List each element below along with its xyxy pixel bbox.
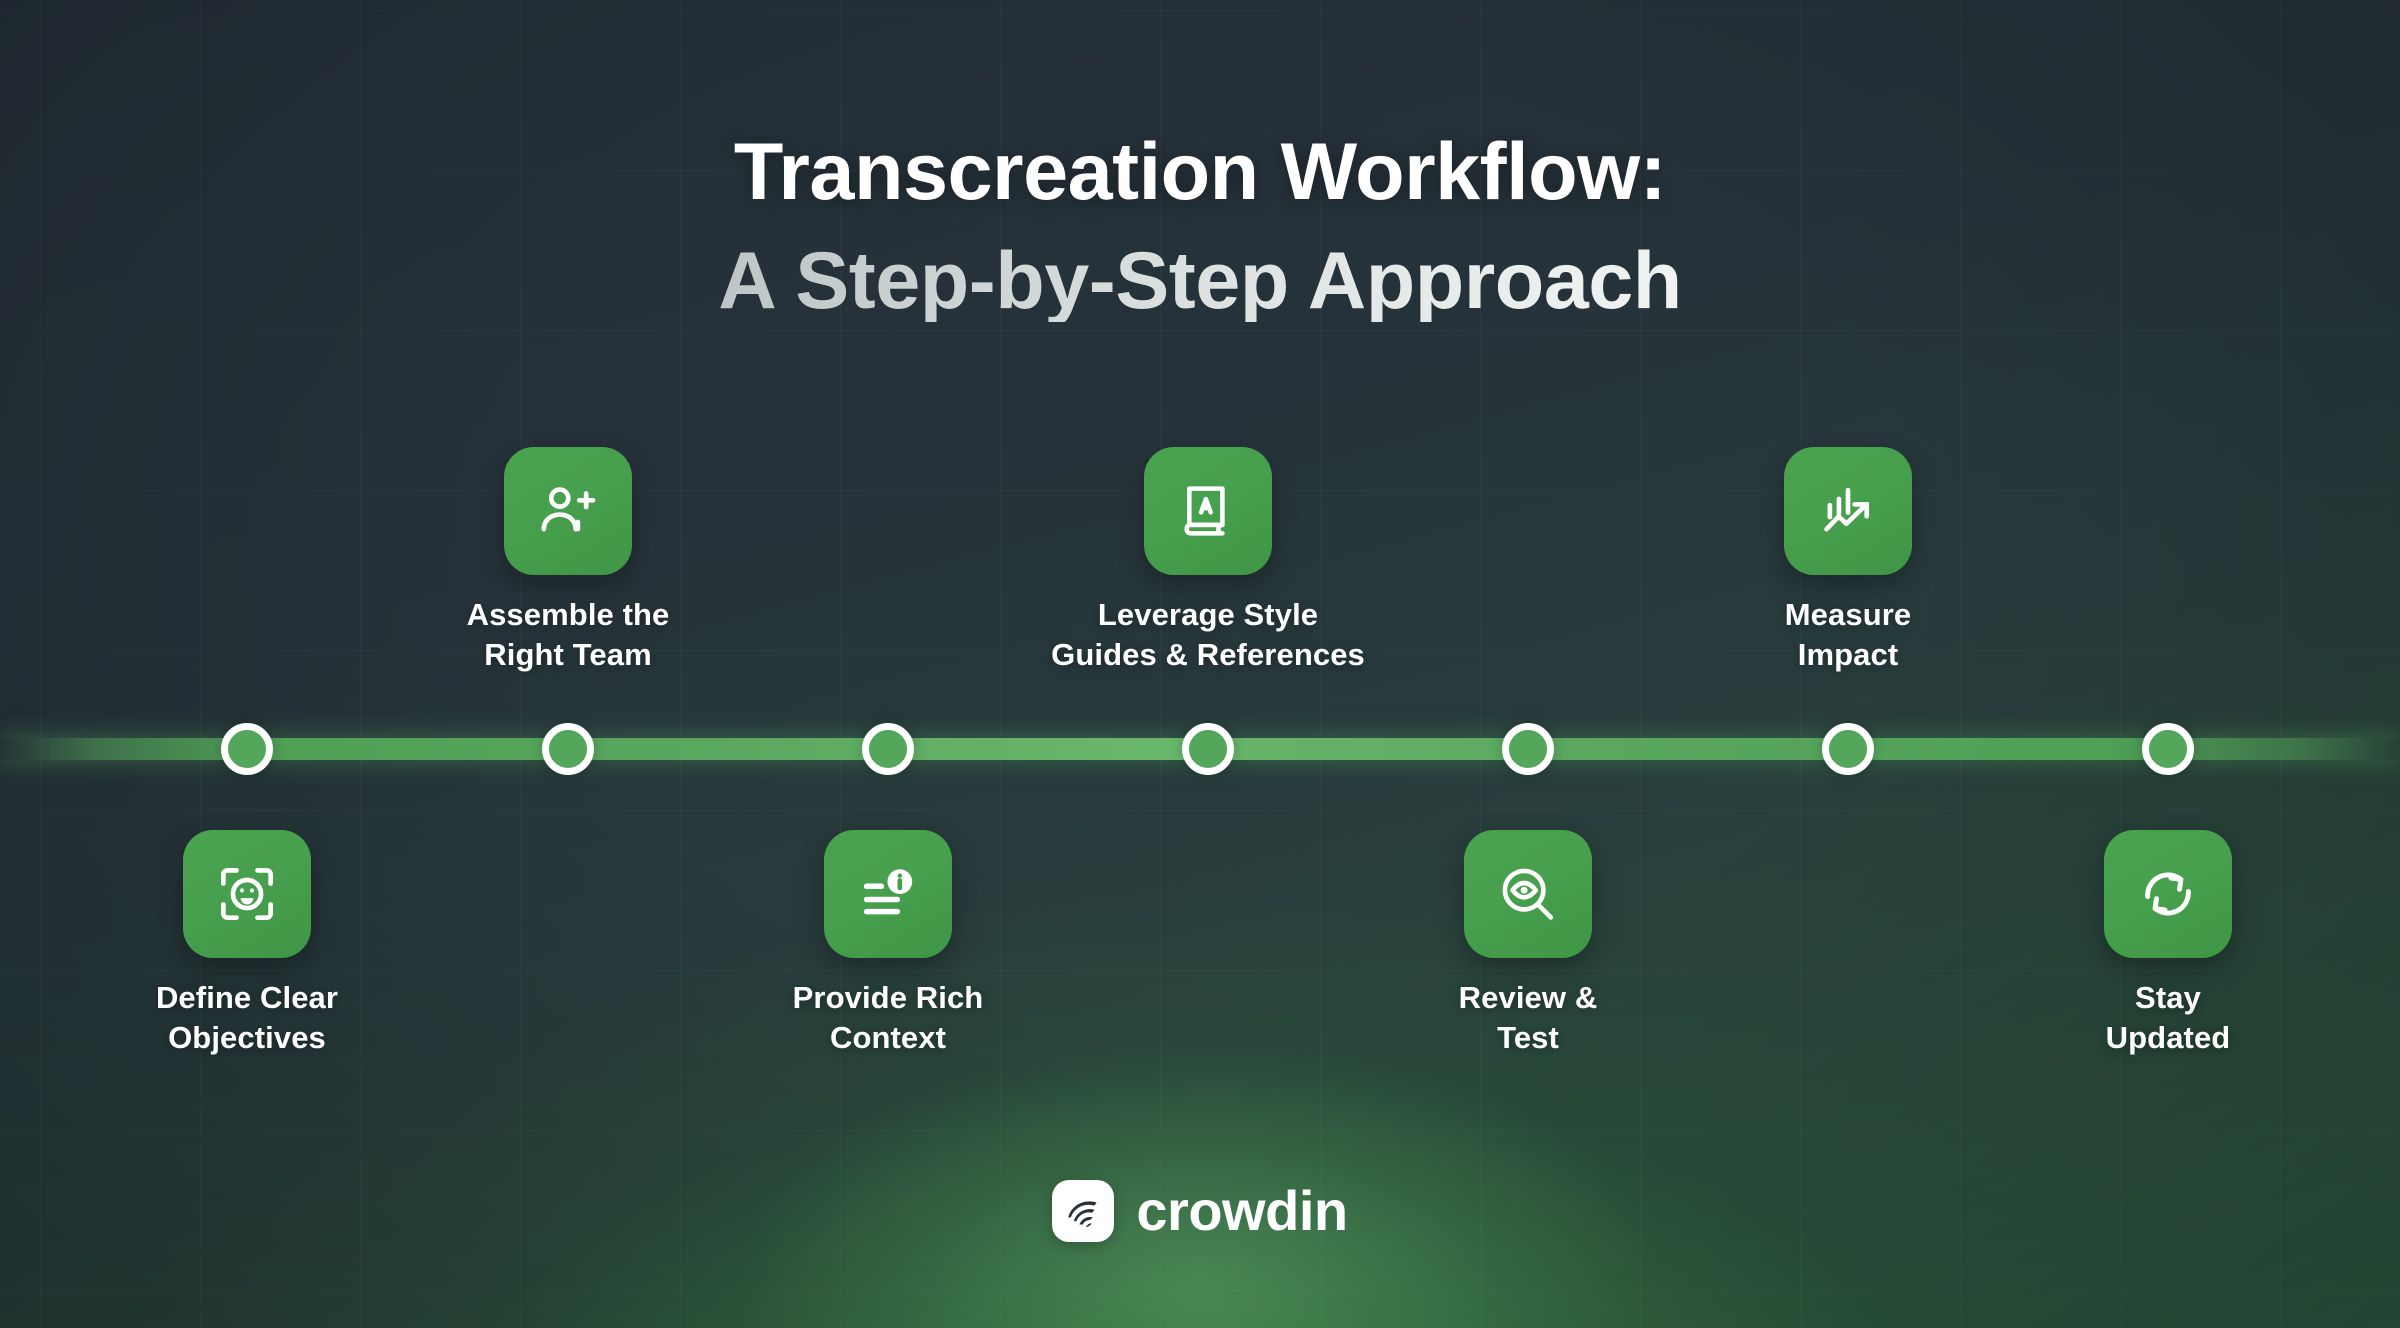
timeline-node-5[interactable] [1502,723,1554,775]
step-6-label: Measure Impact [1648,595,2048,674]
title-line-1: Transcreation Workflow: [0,132,2400,213]
step-5-label-line-2: Test [1328,1018,1728,1058]
timeline-node-2[interactable] [542,723,594,775]
step-1-label-line-2: Objectives [47,1018,447,1058]
step-7-label-line-1: Stay [1968,978,2368,1018]
step-4-label: Leverage Style Guides & References [1008,595,1408,674]
timeline-node-1[interactable] [221,723,273,775]
refresh-sync-icon [2135,861,2201,927]
timeline-node-3[interactable] [862,723,914,775]
step-6-label-line-1: Measure [1648,595,2048,635]
book-letter-a-icon [1176,479,1240,543]
step-2-label: Assemble the Right Team [368,595,768,674]
step-5-icon-tile[interactable] [1464,830,1592,958]
step-7-label-line-2: Updated [1968,1018,2368,1058]
step-4-label-line-1: Leverage Style [1008,595,1408,635]
step-1-icon-tile[interactable] [183,830,311,958]
step-3-icon-tile[interactable] [824,830,952,958]
users-plus-icon [535,478,601,544]
step-1-label: Define Clear Objectives [47,978,447,1057]
step-5-label-line-1: Review & [1328,978,1728,1018]
step-7-icon-tile[interactable] [2104,830,2232,958]
magnifier-eye-icon [1495,861,1561,927]
timeline-node-4[interactable] [1182,723,1234,775]
infographic-canvas: Transcreation Workflow: A Step-by-Step A… [0,0,2400,1328]
timeline-node-7[interactable] [2142,723,2194,775]
step-3-label-line-1: Provide Rich [688,978,1088,1018]
step-2-label-line-1: Assemble the [368,595,768,635]
text-info-icon [855,861,921,927]
crowdin-logo-icon [1052,1180,1114,1242]
step-7-label: Stay Updated [1968,978,2368,1057]
brand-footer: crowdin [0,1180,2400,1242]
step-4-icon-tile[interactable] [1144,447,1272,575]
step-4-label-line-2: Guides & References [1008,635,1408,675]
chart-trend-up-icon [1815,478,1881,544]
title-line-2: A Step-by-Step Approach [0,241,2400,322]
brand-name: crowdin [1136,1183,1347,1239]
face-scan-icon [214,861,280,927]
page-title: Transcreation Workflow: A Step-by-Step A… [0,132,2400,322]
step-3-label-line-2: Context [688,1018,1088,1058]
timeline-node-6[interactable] [1822,723,1874,775]
step-5-label: Review & Test [1328,978,1728,1057]
step-6-icon-tile[interactable] [1784,447,1912,575]
step-2-label-line-2: Right Team [368,635,768,675]
step-1-label-line-1: Define Clear [47,978,447,1018]
step-2-icon-tile[interactable] [504,447,632,575]
step-3-label: Provide Rich Context [688,978,1088,1057]
step-6-label-line-2: Impact [1648,635,2048,675]
